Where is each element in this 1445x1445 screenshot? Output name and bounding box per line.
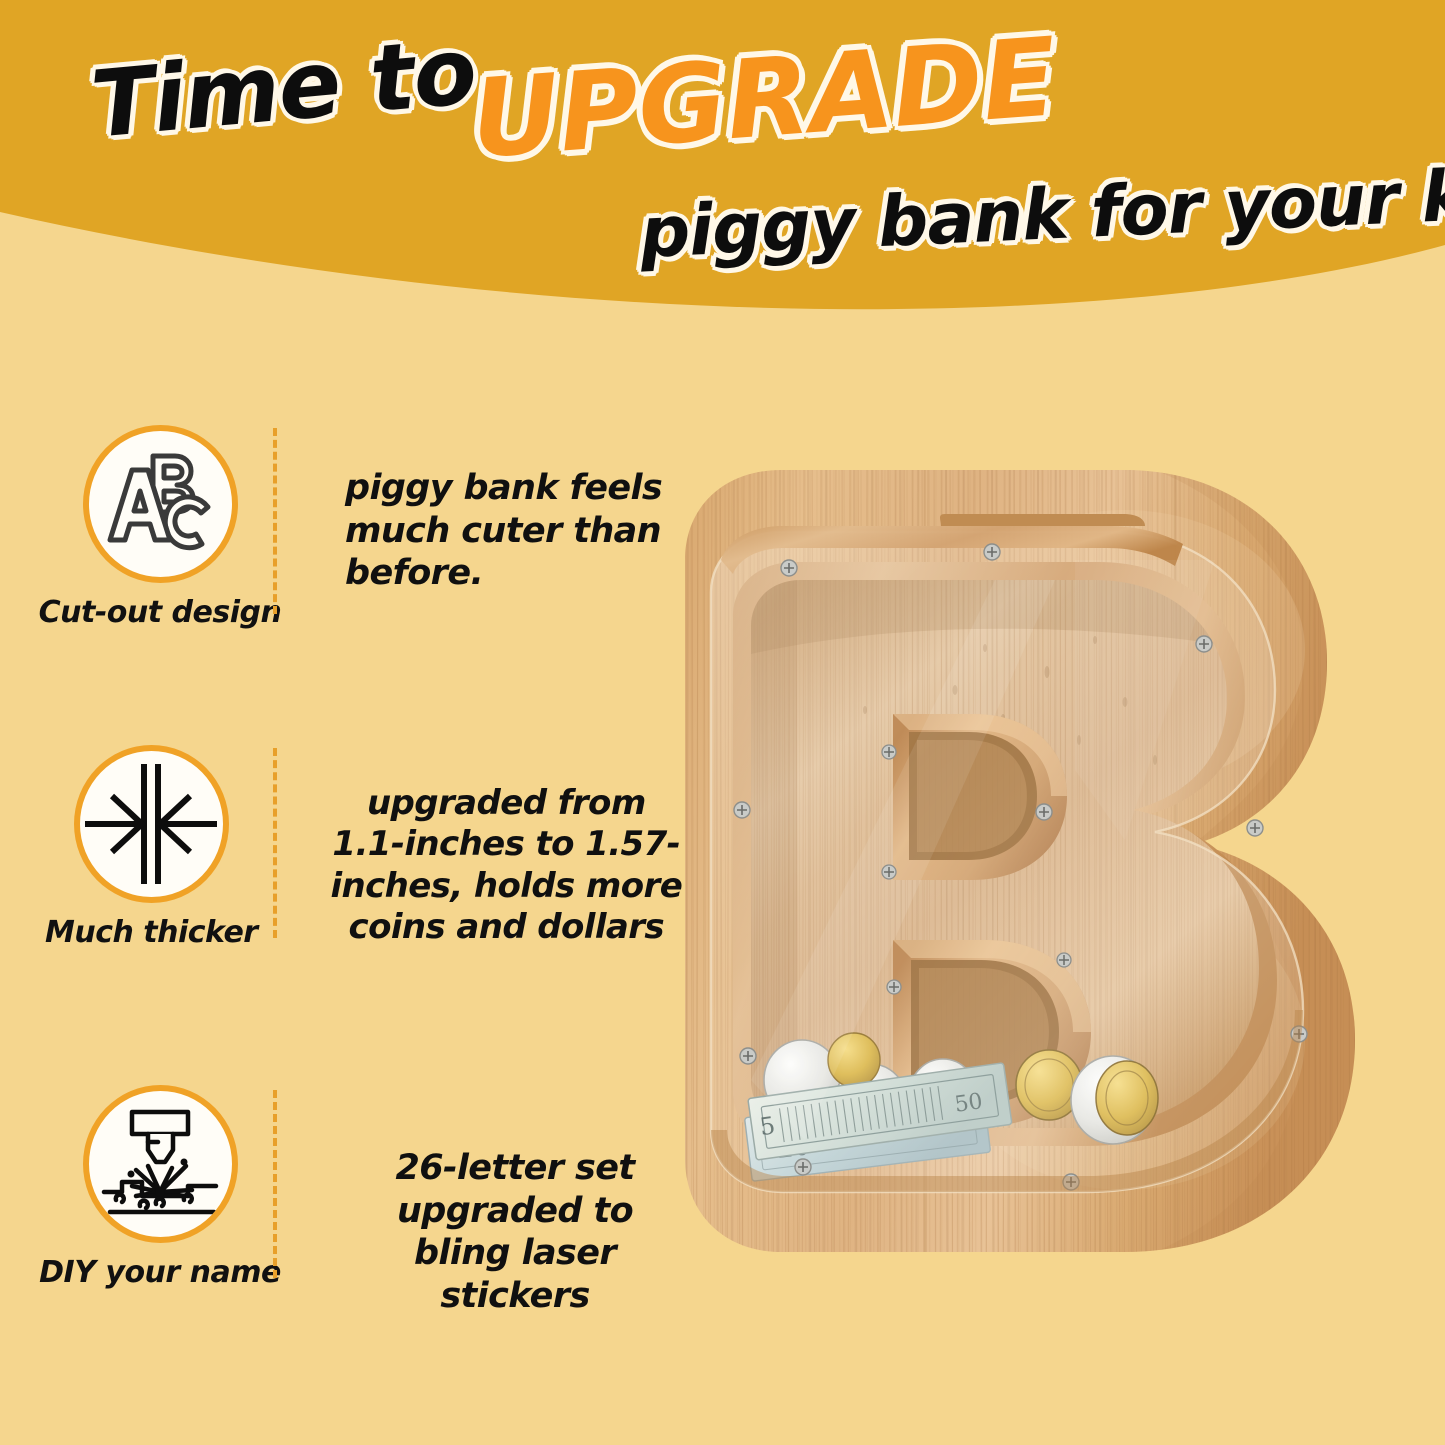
laser-engraver-icon — [83, 1085, 238, 1243]
feature-caption: DIY your name — [39, 1255, 281, 1290]
infographic-page: Time to UPGRADE piggy bank for your kids — [0, 0, 1445, 1445]
thickness-arrows-icon — [74, 745, 229, 903]
feature-description: upgraded from 1.1-inches to 1.57- inches… — [328, 745, 685, 949]
feature-row-diy-your-name: DIY your name 26-letter set upgraded to … — [45, 1085, 685, 1315]
feature-icon-column: DIY your name — [45, 1085, 275, 1290]
abc-letters-icon — [83, 425, 238, 583]
feature-row-cut-out-design: Cut-out design piggy bank feels much cut… — [45, 425, 685, 655]
feature-divider — [273, 1090, 277, 1278]
acrylic-front-panel — [711, 514, 1303, 1192]
feature-description: piggy bank feels much cuter than before. — [345, 425, 685, 595]
feature-caption: Cut-out design — [39, 595, 282, 630]
product-image-wooden-letter-b-piggy-bank: 20 — [655, 440, 1445, 1400]
feature-description: 26-letter set upgraded to bling laser st… — [345, 1085, 685, 1318]
feature-divider — [273, 748, 277, 938]
feature-caption: Much thicker — [45, 915, 258, 950]
feature-icon-column: Cut-out design — [45, 425, 275, 630]
feature-row-much-thicker: Much thicker upgraded from 1.1-inches to… — [45, 745, 685, 975]
feature-icon-column: Much thicker — [45, 745, 258, 950]
feature-divider — [273, 428, 277, 614]
